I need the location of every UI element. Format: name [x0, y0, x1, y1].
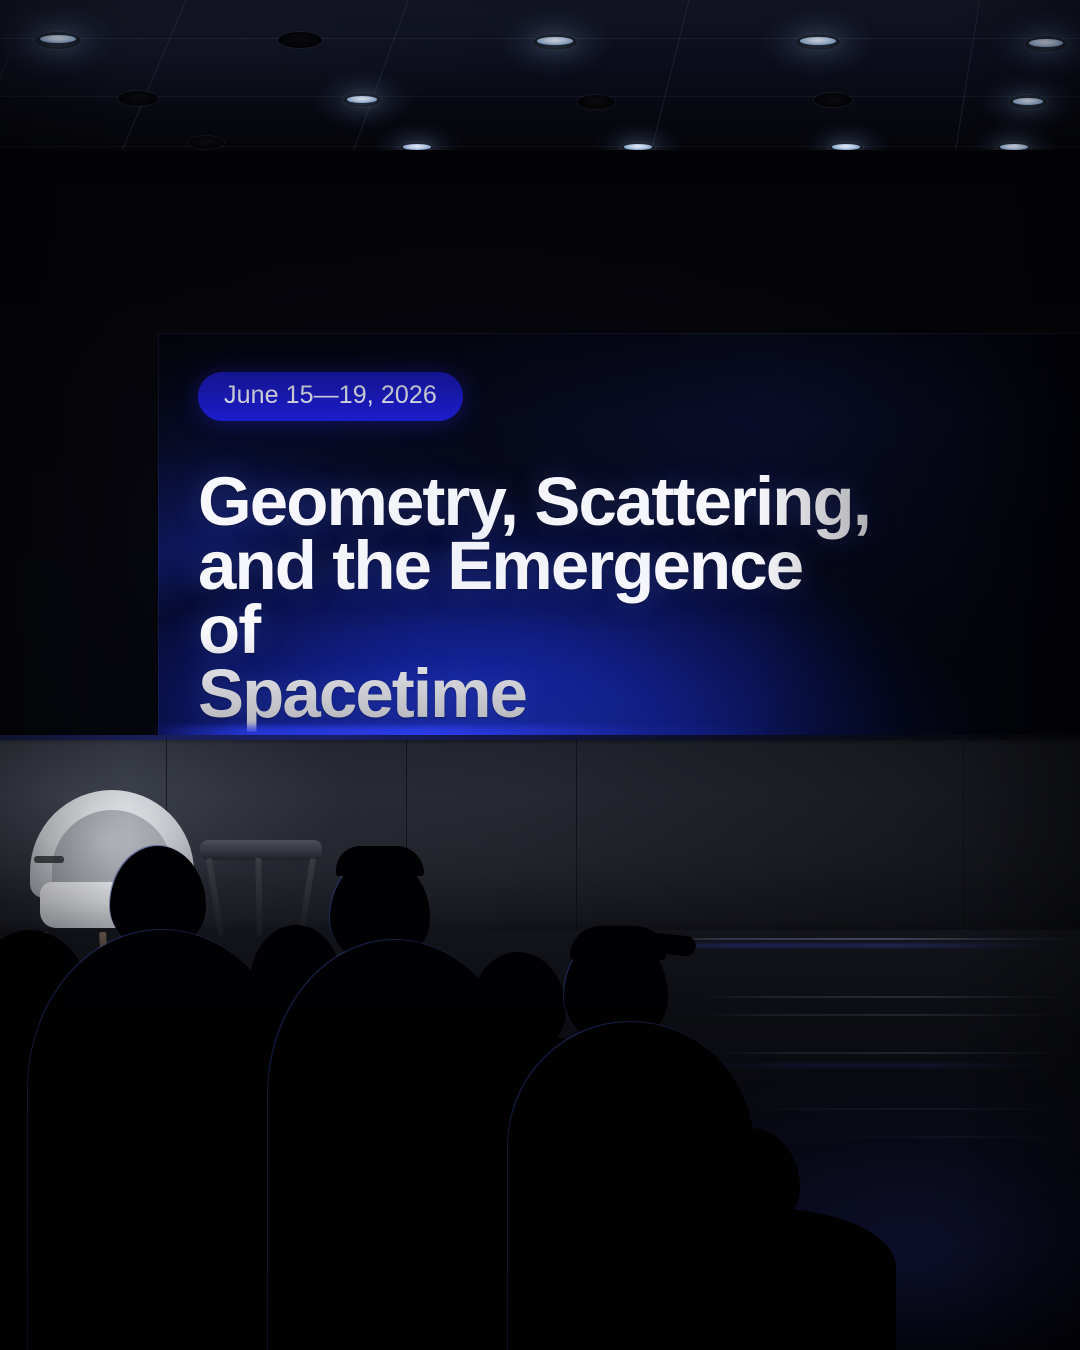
auditorium-scene: June 15—19, 2026 Geometry, Scattering, a…	[0, 0, 1080, 1350]
ceiling-downlight-on-icon	[1025, 36, 1067, 52]
ceiling-downlight-off-icon	[814, 93, 852, 107]
ceiling-downlight-on-icon	[1009, 95, 1047, 109]
ceiling-downlight-off-icon	[577, 95, 615, 109]
ceiling-downlight-on-icon	[343, 93, 381, 107]
slide-content: June 15—19, 2026 Geometry, Scattering, a…	[198, 372, 1080, 727]
conference-date-badge: June 15—19, 2026	[198, 372, 463, 421]
stage-wall-top-edge	[0, 735, 1080, 740]
ceiling-downlight-off-icon	[188, 136, 224, 149]
ceiling-downlight-off-icon	[118, 91, 158, 106]
armchair-seam	[34, 856, 64, 863]
ceiling-downlight-on-icon	[796, 34, 840, 50]
projection-screen: June 15—19, 2026 Geometry, Scattering, a…	[158, 333, 1080, 735]
ceiling-downlight-on-icon	[35, 32, 81, 49]
slide-title: Geometry, Scattering, and the Emergence …	[198, 470, 878, 727]
ceiling-downlight-on-icon	[533, 34, 577, 50]
ceiling-downlight-off-icon	[278, 32, 322, 48]
